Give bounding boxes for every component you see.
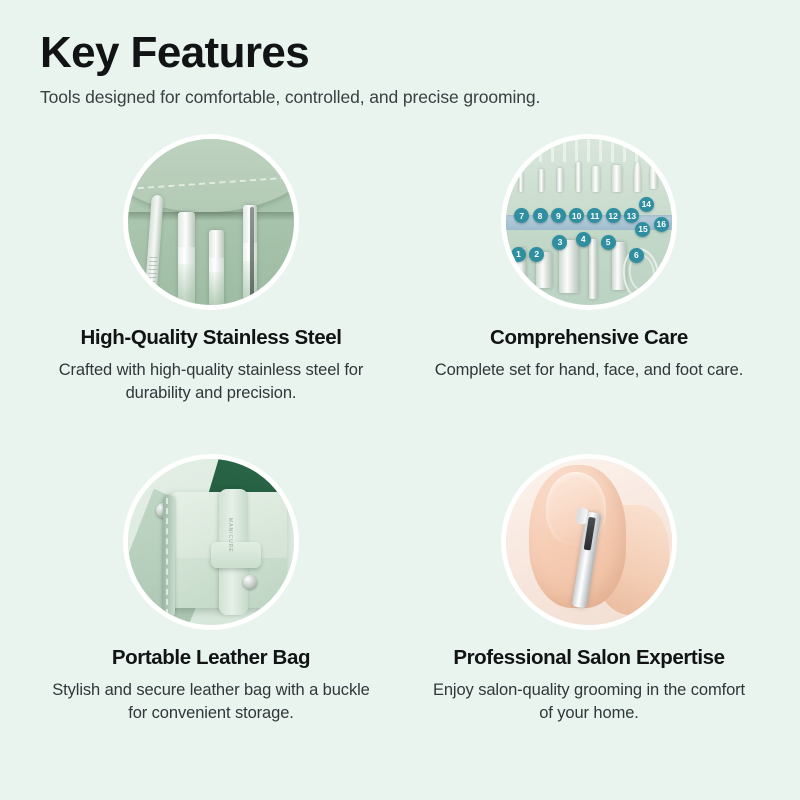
steel-tool-2 (178, 212, 195, 305)
feature-card-leather-bag: MANICURE Portable Leather Bag Stylish an… (22, 454, 400, 754)
tray-tool-7 (519, 172, 523, 192)
feature-title: Comprehensive Care (490, 326, 688, 351)
feature-card-comprehensive-care: 7 8 9 10 11 12 13 14 15 16 1 2 3 4 (400, 134, 778, 434)
bag-buckle (211, 542, 261, 569)
feature-title: Professional Salon Expertise (453, 646, 724, 671)
tool-badge-12: 12 (606, 208, 621, 223)
feature-title: High-Quality Stainless Steel (80, 326, 341, 351)
tool-badge-6: 6 (629, 248, 644, 263)
steel-tool-4 (243, 205, 257, 305)
bag-emboss-text: MANICURE (227, 518, 233, 553)
key-features-page: Key Features Tools designed for comforta… (0, 0, 800, 800)
tray-tool-9 (557, 168, 563, 192)
tool-badge-5: 5 (601, 235, 616, 250)
feature-image-ring-1 (123, 134, 299, 310)
feature-card-salon-expertise: Professional Salon Expertise Enjoy salon… (400, 454, 778, 754)
tray-tool-10 (576, 162, 581, 193)
feature-description: Enjoy salon-quality grooming in the comf… (429, 679, 749, 725)
feature-image-salon-expertise (506, 459, 672, 625)
tray-slots (506, 139, 672, 162)
tray-tool-13 (634, 162, 641, 193)
tray-tool-8 (539, 169, 544, 192)
tool-badge-8: 8 (533, 208, 548, 223)
feature-image-stainless-steel (128, 139, 294, 305)
feature-description: Crafted with high-quality stainless stee… (51, 359, 371, 405)
case-leather-background (128, 139, 294, 305)
snap-stud-right (243, 575, 257, 589)
leather-bag-scene: MANICURE (128, 459, 294, 625)
feature-card-stainless-steel: High-Quality Stainless Steel Crafted wit… (22, 134, 400, 434)
feature-image-comprehensive-care: 7 8 9 10 11 12 13 14 15 16 1 2 3 4 (506, 139, 672, 305)
feature-image-ring-3: MANICURE (123, 454, 299, 630)
bag-spine (163, 495, 175, 618)
tool-badge-4: 4 (576, 232, 591, 247)
feature-image-ring-4 (501, 454, 677, 630)
feature-image-leather-bag: MANICURE (128, 459, 294, 625)
tray-tool-11 (592, 166, 600, 192)
feature-description: Stylish and secure leather bag with a bu… (51, 679, 371, 725)
tool-badge-1: 1 (511, 247, 526, 262)
tool-badge-2: 2 (529, 247, 544, 262)
page-header: Key Features Tools designed for comforta… (0, 0, 800, 108)
feature-description: Complete set for hand, face, and foot ca… (435, 359, 743, 382)
tray-tool-12 (612, 165, 622, 192)
tool-badge-16: 16 (654, 217, 669, 232)
tool-badge-14: 14 (639, 197, 654, 212)
steel-tool-3 (209, 230, 224, 305)
tray-tool-4 (589, 239, 597, 299)
tool-tray-background: 7 8 9 10 11 12 13 14 15 16 1 2 3 4 (506, 139, 672, 305)
page-title: Key Features (40, 30, 760, 77)
nail-closeup-scene (506, 459, 672, 625)
tray-tool-14 (650, 160, 657, 189)
feature-title: Portable Leather Bag (112, 646, 310, 671)
features-grid: High-Quality Stainless Steel Crafted wit… (0, 134, 800, 754)
feature-image-ring-2: 7 8 9 10 11 12 13 14 15 16 1 2 3 4 (501, 134, 677, 310)
page-subtitle: Tools designed for comfortable, controll… (40, 87, 760, 108)
